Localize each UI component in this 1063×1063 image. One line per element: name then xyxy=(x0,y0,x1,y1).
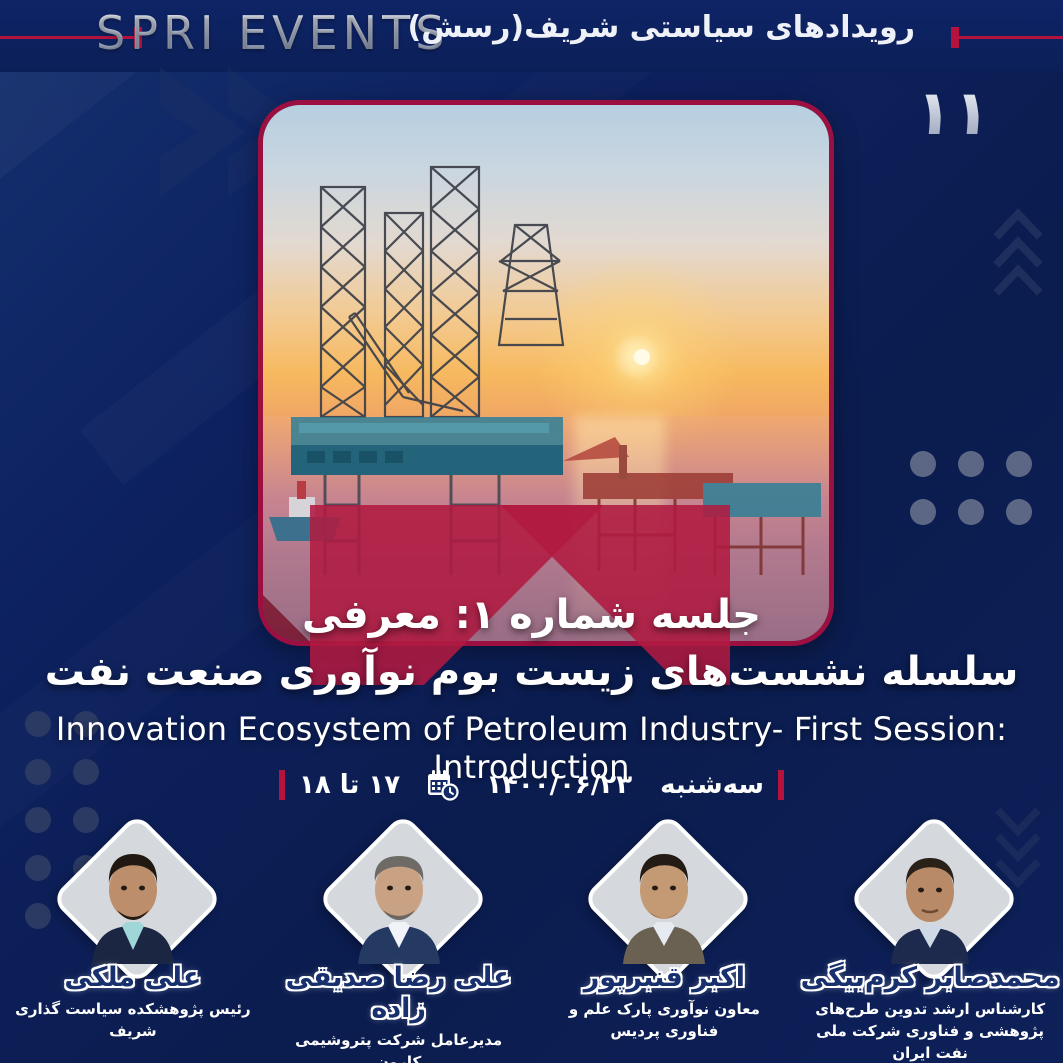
speaker-name: اکبر قنبرپور xyxy=(532,962,798,993)
oil-rig-sunset-photo xyxy=(263,105,829,641)
speaker-card: علی ملکی رئیس پژوهشکده سیاست گذاری شریف xyxy=(0,828,266,1063)
speaker-name: علی ملکی xyxy=(0,962,266,993)
speaker-card: اکبر قنبرپور معاون نوآوری پارک علم و فنا… xyxy=(532,828,798,1063)
avatar xyxy=(589,828,739,978)
chevron-up-icon xyxy=(993,200,1043,300)
time-label: ۱۷ تا ۱۸ xyxy=(285,770,414,800)
spri-logo: SPRI EVENTS xyxy=(96,6,449,60)
schedule-tick-right xyxy=(778,770,784,800)
header-rule-right xyxy=(955,36,1063,39)
calendar-clock-icon xyxy=(426,768,460,802)
speaker-role: کارشناس ارشد تدوین طرح‌های پژوهشی و فناو… xyxy=(808,999,1052,1063)
speaker-role: معاون نوآوری پارک علم و فناوری پردیس xyxy=(542,999,786,1043)
avatar xyxy=(58,828,208,978)
series-title: سلسله نشست‌های زیست بوم نوآوری صنعت نفت xyxy=(0,649,1063,696)
speaker-card: محمدصابر کرم‌بیگی کارشناس ارشد تدوین طرح… xyxy=(797,828,1063,1063)
oil-rig-silhouette xyxy=(263,105,829,641)
speakers-row: محمدصابر کرم‌بیگی کارشناس ارشد تدوین طرح… xyxy=(0,828,1063,1063)
speaker-name: علی رضا صدیقی زاده xyxy=(266,962,532,1024)
speaker-role: مدیرعامل شرکت پتروشیمی کارون xyxy=(276,1030,520,1063)
dot-grid-right xyxy=(899,440,1043,536)
header-persian-title: رویدادهای سیاستی شریف(رسش) xyxy=(407,10,915,45)
schedule-tick-left xyxy=(279,770,285,800)
session-title: جلسه شماره ۱: معرفی xyxy=(0,592,1063,639)
event-poster: SPRI EVENTS رویدادهای سیاستی شریف(رسش) ۱… xyxy=(0,0,1063,1063)
speaker-name: محمدصابر کرم‌بیگی xyxy=(797,962,1063,993)
hero-photo-frame xyxy=(258,100,834,646)
speaker-card: علی رضا صدیقی زاده مدیرعامل شرکت پتروشیم… xyxy=(266,828,532,1063)
title-block: جلسه شماره ۱: معرفی سلسله نشست‌های زیست … xyxy=(0,592,1063,786)
avatar xyxy=(324,828,474,978)
weekday-label: سه‌شنبه xyxy=(646,770,778,800)
schedule-row: سه‌شنبه ۱۴۰۰/۰۶/۲۳ xyxy=(0,768,1063,802)
speaker-role: رئیس پژوهشکده سیاست گذاری شریف xyxy=(11,999,255,1043)
episode-number-badge: ۱۱ xyxy=(912,82,994,144)
header-tick-right xyxy=(951,27,959,48)
date-label: ۱۴۰۰/۰۶/۲۳ xyxy=(472,770,646,800)
avatar xyxy=(855,828,1005,978)
